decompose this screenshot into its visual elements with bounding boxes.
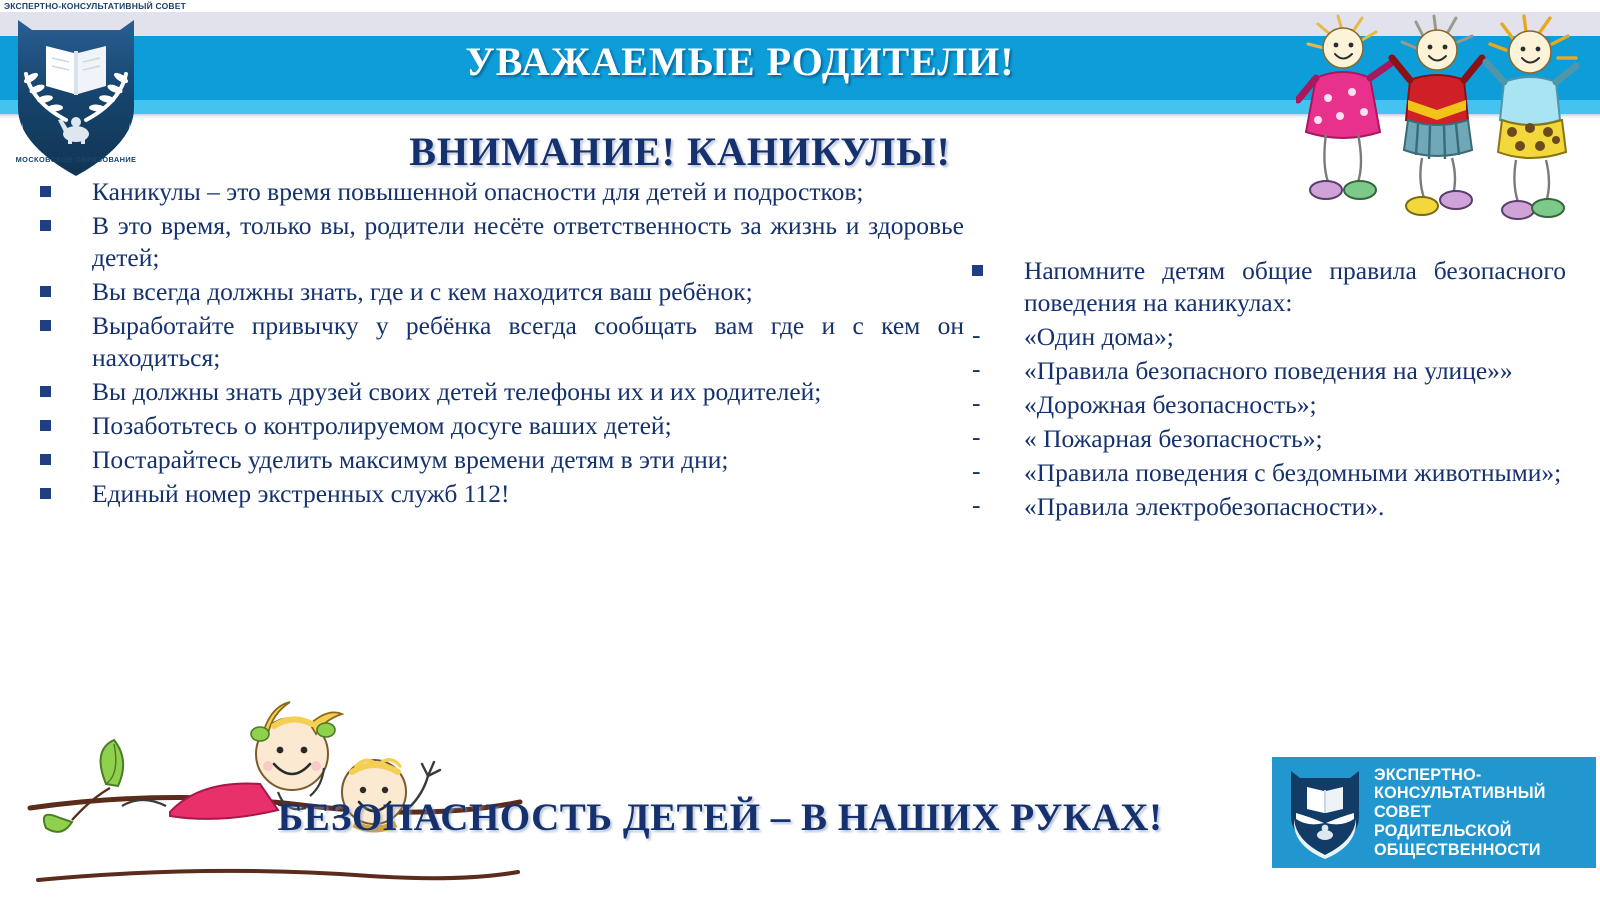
- list-item: Единый номер экстренных служб 112!: [26, 478, 966, 510]
- list-item: Вы должны знать друзей своих детей телеф…: [26, 376, 966, 408]
- list-item-text: «Один дома»;: [1024, 321, 1568, 353]
- dash-bullet-icon: -: [968, 457, 1024, 484]
- list-item-text: Постарайтесь уделить максимум времени де…: [92, 444, 966, 476]
- dash-bullet-icon: -: [968, 423, 1024, 450]
- list-item-text: Напомните детям общие правила безопасног…: [1024, 255, 1568, 319]
- list-item-text: Выработайте привычку у ребёнка всегда со…: [92, 310, 966, 374]
- list-item: Постарайтесь уделить максимум времени де…: [26, 444, 966, 476]
- footer-logo-line: ЭКСПЕРТНО-: [1374, 766, 1596, 785]
- list-item-text: «Правила электробезопасности».: [1024, 491, 1568, 523]
- list-item: - «Правила безопасного поведения на улиц…: [968, 355, 1568, 387]
- moscow-education-crest-icon: МОСКОВСКОЕ ОБРАЗОВАНИЕ: [2, 16, 150, 186]
- list-item-text: Единый номер экстренных служб 112!: [92, 478, 966, 510]
- list-item-text: Позаботьтесь о контролируемом досуге ваш…: [92, 410, 966, 442]
- square-bullet-icon: [26, 276, 92, 297]
- dash-bullet-icon: -: [968, 355, 1024, 382]
- footer-logo-block: ЭКСПЕРТНО- КОНСУЛЬТАТИВНЫЙ СОВЕТ РОДИТЕЛ…: [1272, 757, 1596, 868]
- svg-text:МОСКОВСКОЕ ОБРАЗОВАНИЕ: МОСКОВСКОЕ ОБРАЗОВАНИЕ: [16, 155, 137, 164]
- list-item-text: Вы всегда должны знать, где и с кем нахо…: [92, 276, 966, 308]
- square-bullet-icon: [26, 410, 92, 431]
- poster-canvas: ЭКСПЕРТНО-КОНСУЛЬТАТИВНЫЙ СОВЕТ: [0, 0, 1600, 901]
- right-bullet-list: Напомните детям общие правила безопасног…: [968, 255, 1568, 523]
- footer-logo-line: РОДИТЕЛЬСКОЙ: [1374, 822, 1596, 841]
- square-bullet-icon: [968, 255, 1024, 276]
- list-item-text: «Дорожная безопасность»;: [1024, 389, 1568, 421]
- square-bullet-icon: [26, 376, 92, 397]
- slogan-text: БЕЗОПАСНОСТЬ ДЕТЕЙ – В НАШИХ РУКАХ!: [180, 795, 1260, 840]
- footer-logo-line: КОНСУЛЬТАТИВНЫЙ: [1374, 784, 1596, 803]
- list-item: - « Пожарная безопасность»;: [968, 423, 1568, 455]
- left-bullet-list: Каникулы – это время повышенной опасност…: [26, 176, 966, 510]
- list-item: Вы всегда должны знать, где и с кем нахо…: [26, 276, 966, 308]
- footer-logo-text: ЭКСПЕРТНО- КОНСУЛЬТАТИВНЫЙ СОВЕТ РОДИТЕЛ…: [1374, 766, 1596, 860]
- list-item-text: Вы должны знать друзей своих детей телеф…: [92, 376, 966, 408]
- list-item: - «Один дома»;: [968, 321, 1568, 353]
- footer-logo-line: ОБЩЕСТВЕННОСТИ: [1374, 841, 1596, 860]
- list-item: Выработайте привычку у ребёнка всегда со…: [26, 310, 966, 374]
- council-emblem-icon: [1282, 767, 1368, 859]
- list-item: - «Правила электробезопасности».: [968, 491, 1568, 523]
- square-bullet-icon: [26, 310, 92, 331]
- three-children-illustration: [1296, 14, 1596, 229]
- dash-bullet-icon: -: [968, 491, 1024, 518]
- list-item: Позаботьтесь о контролируемом досуге ваш…: [26, 410, 966, 442]
- dash-bullet-icon: -: [968, 321, 1024, 348]
- right-bullet-column: Напомните детям общие правила безопасног…: [968, 255, 1568, 525]
- list-item: - «Правила поведения с бездомными животн…: [968, 457, 1568, 489]
- list-item: Каникулы – это время повышенной опасност…: [26, 176, 966, 208]
- square-bullet-icon: [26, 444, 92, 465]
- list-item: - «Дорожная безопасность»;: [968, 389, 1568, 421]
- square-bullet-icon: [26, 478, 92, 499]
- left-bullet-column: Каникулы – это время повышенной опасност…: [26, 176, 966, 512]
- list-item-text: «Правила поведения с бездомными животным…: [1024, 457, 1568, 489]
- list-item-text: « Пожарная безопасность»;: [1024, 423, 1568, 455]
- list-item-text: В это время, только вы, родители несёте …: [92, 210, 966, 274]
- two-children-on-branch-illustration: [10, 668, 530, 898]
- footer-logo-line: СОВЕТ: [1374, 803, 1596, 822]
- dash-bullet-icon: -: [968, 389, 1024, 416]
- list-item-text: Каникулы – это время повышенной опасност…: [92, 176, 966, 208]
- square-bullet-icon: [26, 210, 92, 231]
- list-item-lead: Напомните детям общие правила безопасног…: [968, 255, 1568, 319]
- org-label: ЭКСПЕРТНО-КОНСУЛЬТАТИВНЫЙ СОВЕТ: [4, 1, 186, 11]
- list-item-text: «Правила безопасного поведения на улице»…: [1024, 355, 1568, 387]
- list-item: В это время, только вы, родители несёте …: [26, 210, 966, 274]
